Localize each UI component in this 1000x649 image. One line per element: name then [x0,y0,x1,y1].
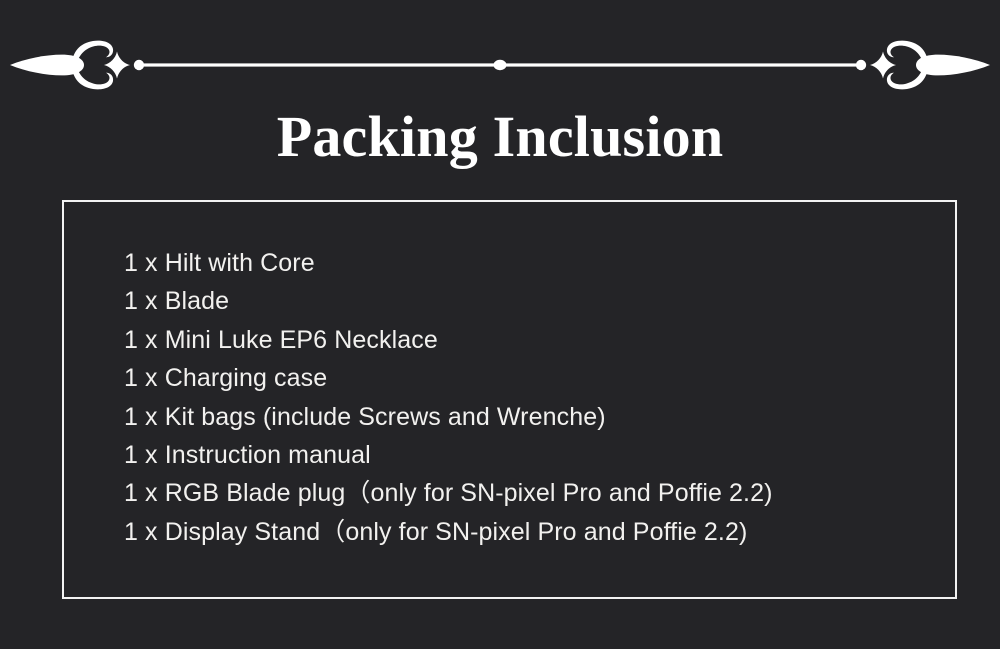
flourish-left-icon [10,41,144,90]
flourish-right-icon [856,41,990,90]
divider-center-dot [494,60,507,70]
inclusion-box: 1 x Hilt with Core 1 x Blade 1 x Mini Lu… [62,200,957,599]
list-item: 1 x Hilt with Core [124,244,773,282]
list-item: 1 x Mini Luke EP6 Necklace [124,321,773,359]
ornamental-divider [0,30,1000,100]
list-item: 1 x Display Stand（only for SN-pixel Pro … [124,513,773,551]
list-item: 1 x Blade [124,282,773,320]
inclusion-list: 1 x Hilt with Core 1 x Blade 1 x Mini Lu… [124,244,773,551]
list-item: 1 x RGB Blade plug（only for SN-pixel Pro… [124,474,773,512]
list-item: 1 x Charging case [124,359,773,397]
list-item: 1 x Instruction manual [124,436,773,474]
page-title: Packing Inclusion [0,102,1000,172]
list-item: 1 x Kit bags (include Screws and Wrenche… [124,398,773,436]
